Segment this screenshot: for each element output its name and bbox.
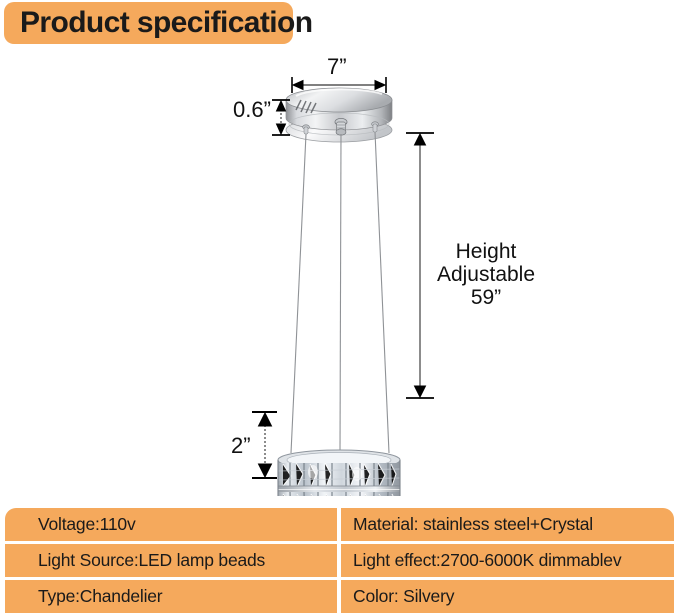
product-specification-banner: Product specification bbox=[4, 2, 293, 44]
crystal-ring-shade bbox=[278, 450, 400, 496]
dimension-label-height-adjustable: Height Adjustable 59” bbox=[424, 240, 548, 309]
dimension-label-canopy-height: 0.6” bbox=[233, 97, 271, 123]
dimension-label-ring-height: 2” bbox=[231, 433, 251, 459]
center-connector bbox=[335, 118, 347, 135]
table-row: Voltage:110v Material: stainless steel+C… bbox=[5, 508, 674, 541]
spec-cell-voltage: Voltage:110v bbox=[5, 508, 337, 541]
height-adjustable-line-2: Adjustable bbox=[424, 263, 548, 286]
crystal-row-bottom bbox=[278, 492, 400, 496]
height-adjustable-line-3: 59” bbox=[424, 286, 548, 309]
chandelier-drawing bbox=[0, 44, 679, 496]
spec-cell-light-source: Light Source:LED lamp beads bbox=[5, 544, 337, 577]
table-row: Type:Chandelier Color: Silvery bbox=[5, 580, 674, 613]
specification-table: Voltage:110v Material: stainless steel+C… bbox=[5, 508, 674, 614]
product-illustration: 7” 0.6” 2” Height Adjustable 59” bbox=[0, 44, 679, 496]
spec-cell-type: Type:Chandelier bbox=[5, 580, 337, 613]
spec-cell-material: Material: stainless steel+Crystal bbox=[341, 508, 674, 541]
dimension-label-canopy-width: 7” bbox=[327, 54, 347, 80]
table-row: Light Source:LED lamp beads Light effect… bbox=[5, 544, 674, 577]
height-adjustable-line-1: Height bbox=[424, 240, 548, 263]
crystal-row-top bbox=[278, 462, 400, 488]
ceiling-canopy bbox=[286, 88, 392, 142]
page-title: Product specification bbox=[20, 2, 295, 44]
dimension-ring-height bbox=[252, 412, 277, 478]
spec-cell-light-effect: Light effect:2700-6000K dimmablev bbox=[341, 544, 674, 577]
suspension-cables bbox=[291, 132, 389, 453]
spec-cell-color: Color: Silvery bbox=[341, 580, 674, 613]
